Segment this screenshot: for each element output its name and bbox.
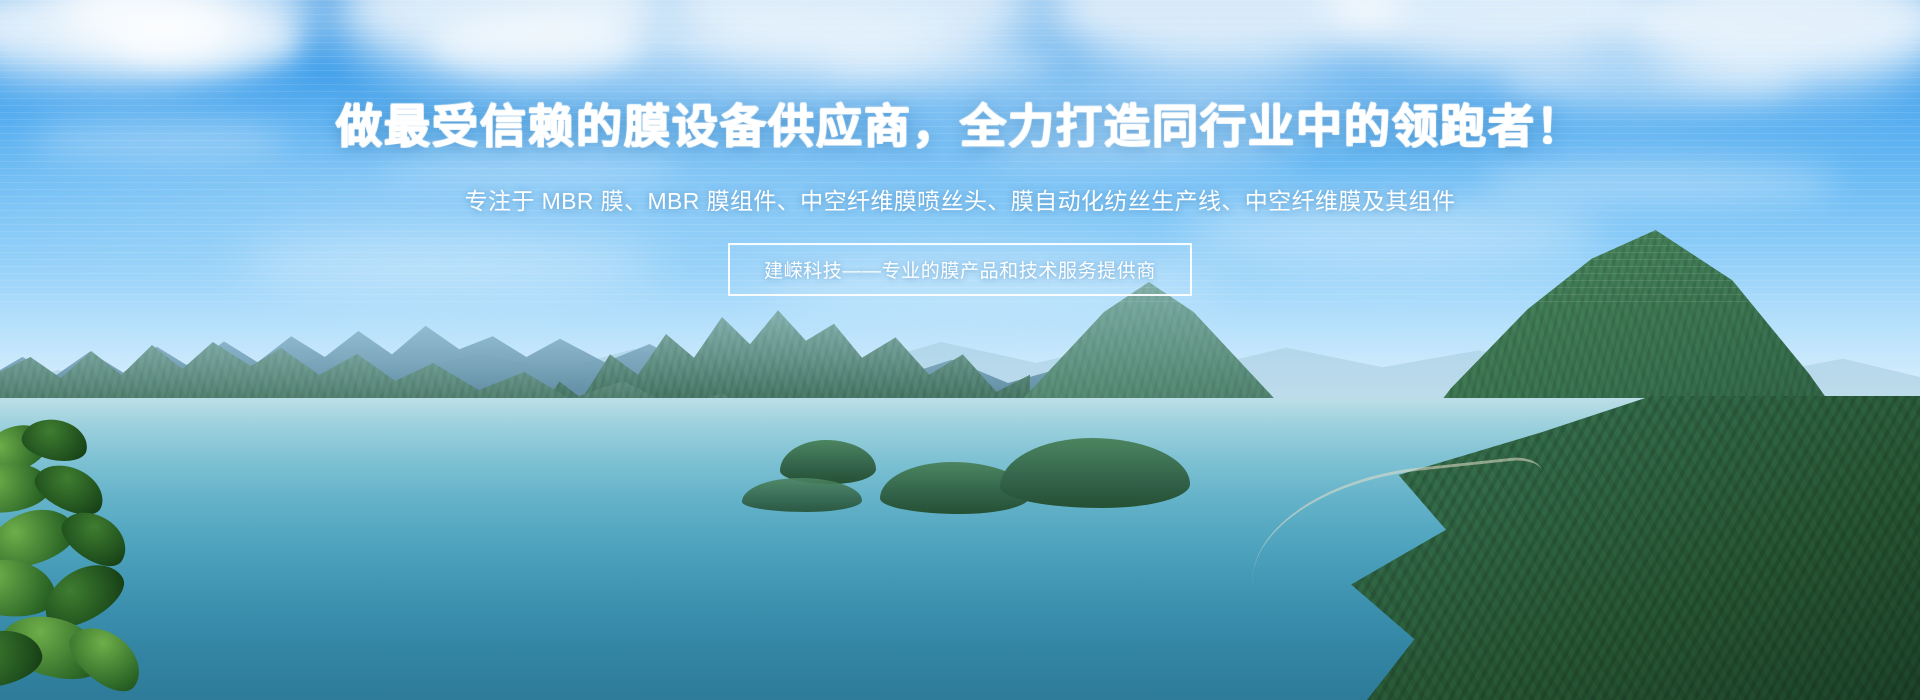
banner-subtitle: 专注于 MBR 膜、MBR 膜组件、中空纤维膜喷丝头、膜自动化纺丝生产线、中空纤… [465,182,1456,216]
banner-tagline-box: 建嵘科技——专业的膜产品和技术服务提供商 [728,243,1192,296]
hero-banner: 做最受信赖的膜设备供应商，全力打造同行业中的领跑者！ 专注于 MBR 膜、MBR… [0,0,1920,700]
banner-headline: 做最受信赖的膜设备供应商，全力打造同行业中的领跑者！ [336,100,1584,153]
foreground-foliage [0,420,220,700]
